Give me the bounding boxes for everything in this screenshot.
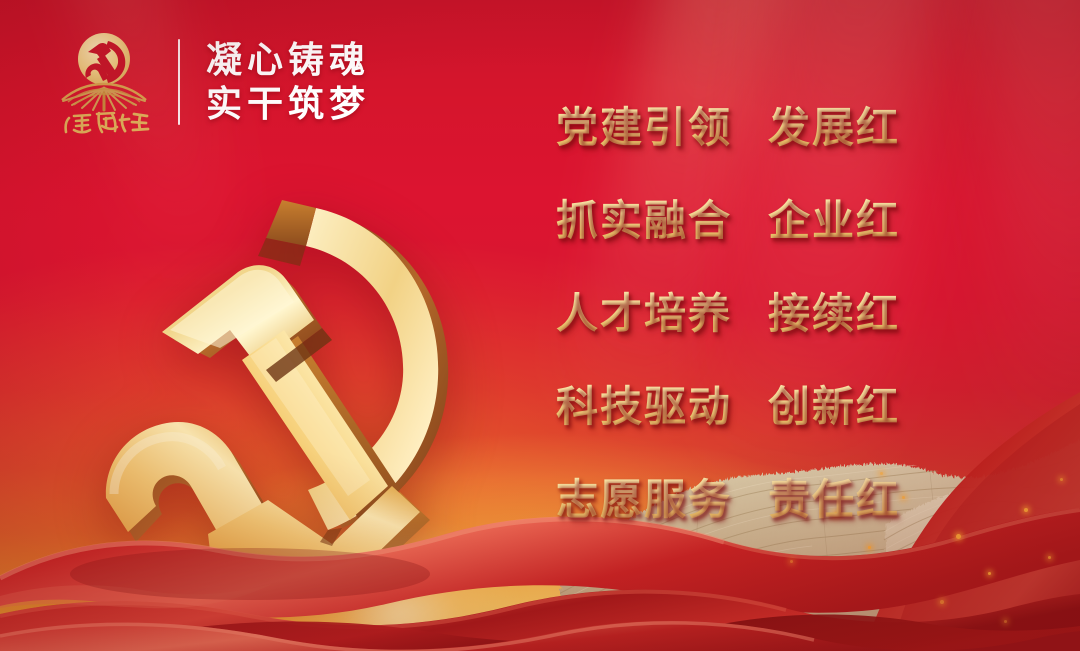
- hero-party-emblem: [70, 190, 470, 580]
- slogan-right: 责任红: [768, 466, 900, 527]
- sparkle-icon: [988, 572, 991, 575]
- slogan-list: 党建引领 发展红 抓实融合 企业红 人才培养 接续红 科技驱动 创新红 志愿服务…: [556, 94, 900, 527]
- large-3d-party-emblem-icon: [70, 190, 470, 580]
- slogan-row: 人才培养 接续红: [556, 280, 900, 341]
- sparkle-icon: [868, 546, 871, 549]
- sparkle-icon: [902, 496, 905, 499]
- slogan-row: 党建引领 发展红: [556, 94, 900, 155]
- slogan-right: 发展红: [768, 94, 900, 155]
- sparkle-icon: [1048, 556, 1051, 559]
- brand-divider: [178, 39, 180, 125]
- sparkle-icon: [956, 534, 961, 539]
- slogan-row: 科技驱动 创新红: [556, 373, 900, 434]
- brand-lockup: 凝心铸魂 实干筑梦: [52, 26, 370, 138]
- sparkle-icon: [1004, 620, 1007, 623]
- slogan-left: 人才培养: [556, 280, 768, 341]
- light-ray-icon: [960, 0, 1080, 455]
- sparkle-icon: [1060, 478, 1063, 481]
- sparkle-icon: [940, 600, 944, 604]
- slogan-right: 创新红: [768, 373, 900, 434]
- sparkle-icon: [790, 560, 793, 563]
- slogan-left: 抓实融合: [556, 187, 768, 248]
- tagline-line-2: 实干筑梦: [206, 83, 370, 125]
- slogan-left: 志愿服务: [556, 466, 768, 527]
- tagline-line-1: 凝心铸魂: [206, 39, 370, 81]
- brand-logo[interactable]: [52, 26, 156, 138]
- sparkle-icon: [1024, 508, 1028, 512]
- brand-name-calligraphy: [66, 113, 148, 132]
- slogan-left: 党建引领: [556, 94, 768, 155]
- slogan-row: 志愿服务 责任红: [556, 466, 900, 527]
- slogan-right: 接续红: [768, 280, 900, 341]
- brand-tagline: 凝心铸魂 实干筑梦: [206, 39, 370, 126]
- poster-canvas: 凝心铸魂 实干筑梦 党建引领 发展红 抓实融合 企业红 人才培养 接续红 科技驱…: [0, 0, 1080, 651]
- slogan-left: 科技驱动: [556, 373, 768, 434]
- slogan-row: 抓实融合 企业红: [556, 187, 900, 248]
- slogan-right: 企业红: [768, 187, 900, 248]
